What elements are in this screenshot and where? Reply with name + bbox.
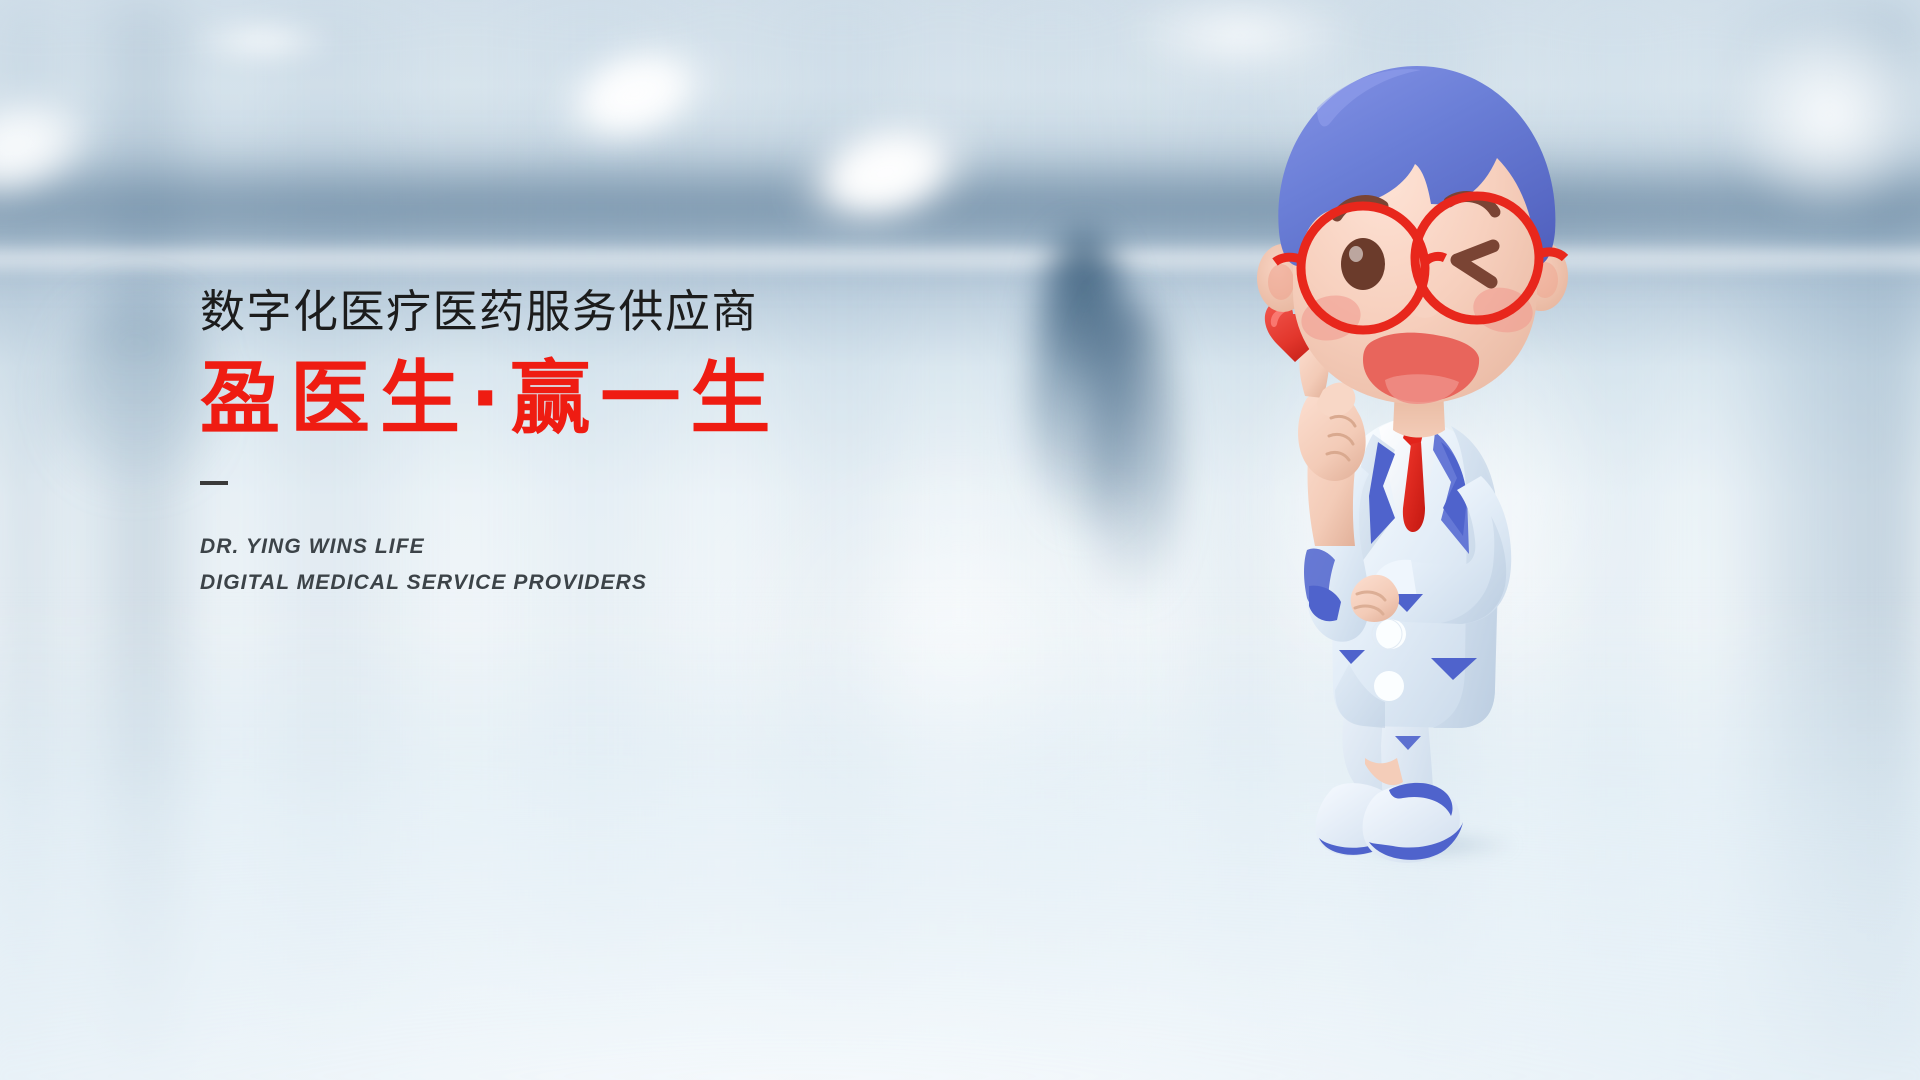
mascot-glasses-temple-left [1275,257,1303,262]
mascot-eye-open [1341,238,1385,290]
mascot-shoe-front [1363,783,1463,863]
mascot-glasses-bridge [1425,256,1445,262]
hero-headline-cn: 盈医生·赢一生 [200,359,960,439]
hero-english-line-1: DR. YING WINS LIFE [200,529,960,565]
hero-divider [200,481,228,485]
hero-english-line-2: DIGITAL MEDICAL SERVICE PROVIDERS [200,565,960,601]
hero-subtitle-cn: 数字化医疗医药服务供应商 [200,288,960,337]
hero-copy-block: 数字化医疗医药服务供应商 盈医生·赢一生 DR. YING WINS LIFE … [200,288,960,601]
hero-banner: 数字化医疗医药服务供应商 盈医生·赢一生 DR. YING WINS LIFE … [0,0,1920,1080]
mascot-coat-button-2 [1374,671,1404,701]
hero-english-block: DR. YING WINS LIFE DIGITAL MEDICAL SERVI… [200,529,960,601]
doctor-mascot-illustration [1245,46,1665,866]
